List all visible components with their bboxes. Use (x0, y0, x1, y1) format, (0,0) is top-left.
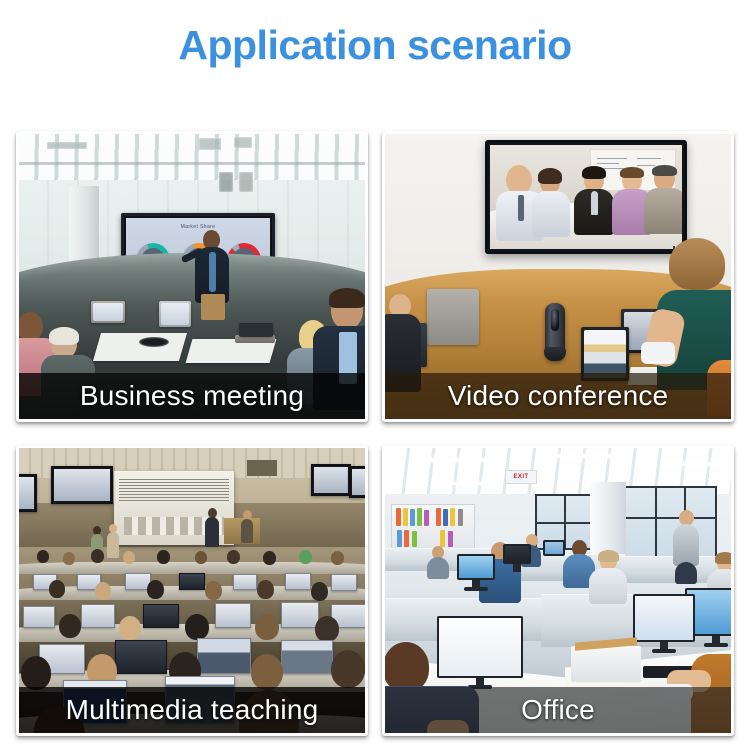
worker-shirt (589, 568, 627, 604)
office-window-right (623, 486, 717, 560)
ceiling-projector (247, 460, 277, 476)
conference-camera[interactable] (545, 303, 565, 361)
camera-lens-icon (551, 309, 559, 331)
scenario-panel-multimedia-teaching[interactable]: Multimedia teaching (16, 445, 368, 736)
caption-bar: Business meeting (19, 373, 365, 419)
exit-sign-label: EXIT (514, 474, 529, 480)
laptop-on-table (235, 323, 275, 345)
caption-bar: Multimedia teaching (19, 687, 365, 733)
caption-bar: Video conference (385, 373, 731, 419)
monitor-midground-3 (543, 540, 565, 556)
wall-speaker (219, 172, 233, 192)
remote-participant-4 (614, 169, 648, 233)
caption-bar: Office (385, 687, 731, 733)
side-monitor-left (51, 466, 113, 504)
table-microphone (139, 337, 169, 347)
participant-hair (538, 168, 562, 184)
attendee-hair (49, 327, 79, 345)
remote-participant-3 (576, 169, 610, 233)
ceiling-light (415, 458, 485, 462)
tv-video-feed (490, 145, 682, 249)
laptop-on-table (159, 301, 191, 331)
side-monitor-right (311, 464, 351, 496)
participant-hair (652, 165, 677, 176)
laptop-left (427, 289, 479, 355)
wall-mounted-tv (485, 140, 687, 254)
monitor-foot (652, 649, 676, 653)
ceiling-beam (19, 162, 365, 165)
side-monitor-far-right (349, 466, 365, 498)
monitor-midground-2 (503, 544, 531, 564)
scenario-panel-office[interactable]: EXIT (382, 445, 734, 736)
paper-sheet (93, 333, 187, 361)
laptop-on-table (91, 301, 125, 327)
camera-base (544, 347, 566, 361)
panel-caption: Multimedia teaching (66, 694, 319, 726)
worker-standing-at-window (673, 510, 699, 582)
desk-organizer (571, 646, 641, 682)
participant-shirt (532, 191, 570, 237)
worker-midground-5 (427, 546, 449, 576)
ceiling-vent (234, 137, 252, 148)
scenario-grid: Market Share 42% 79% 93% (16, 131, 734, 736)
participant-hair (582, 166, 606, 179)
exit-sign: EXIT (505, 470, 537, 484)
book-shelving (391, 504, 475, 552)
worker-hair (598, 550, 619, 562)
worker-hoodie (673, 524, 699, 566)
side-monitor-far-left (19, 474, 37, 512)
participant-shirt (591, 191, 598, 215)
worker-head (385, 642, 429, 692)
participant-tie (518, 195, 524, 221)
attendee-hair (669, 238, 725, 290)
page-title: Application scenario (0, 22, 750, 69)
participant-hair (620, 167, 644, 178)
wall-speaker (239, 172, 253, 192)
ceiling-vent (47, 142, 87, 149)
scenario-panel-business-meeting[interactable]: Market Share 42% 79% 93% (16, 131, 368, 422)
scenario-panel-video-conference[interactable]: Video conference (382, 131, 734, 422)
presenter-scarf (209, 252, 216, 292)
presenter (195, 230, 229, 326)
panel-caption: Video conference (448, 380, 669, 412)
panel-caption: Office (521, 694, 595, 726)
ceiling-light (445, 482, 495, 485)
ceiling-light (555, 454, 615, 458)
remote-participant-5 (646, 167, 682, 233)
monitor-midground-1 (457, 554, 495, 580)
attendee-cuff (641, 342, 675, 364)
ceiling-vent (199, 138, 221, 150)
attendee-hair (329, 288, 365, 308)
remote-participant-2 (534, 171, 566, 233)
panel-caption: Business meeting (80, 380, 304, 412)
worker-midground-3 (589, 552, 627, 600)
participant-jacket (644, 188, 682, 234)
presenter-skirt (201, 294, 225, 320)
application-scenario-page: Application scenario Market Share (0, 0, 750, 750)
ceiling-light (661, 462, 721, 466)
worker-jeans (675, 562, 697, 584)
